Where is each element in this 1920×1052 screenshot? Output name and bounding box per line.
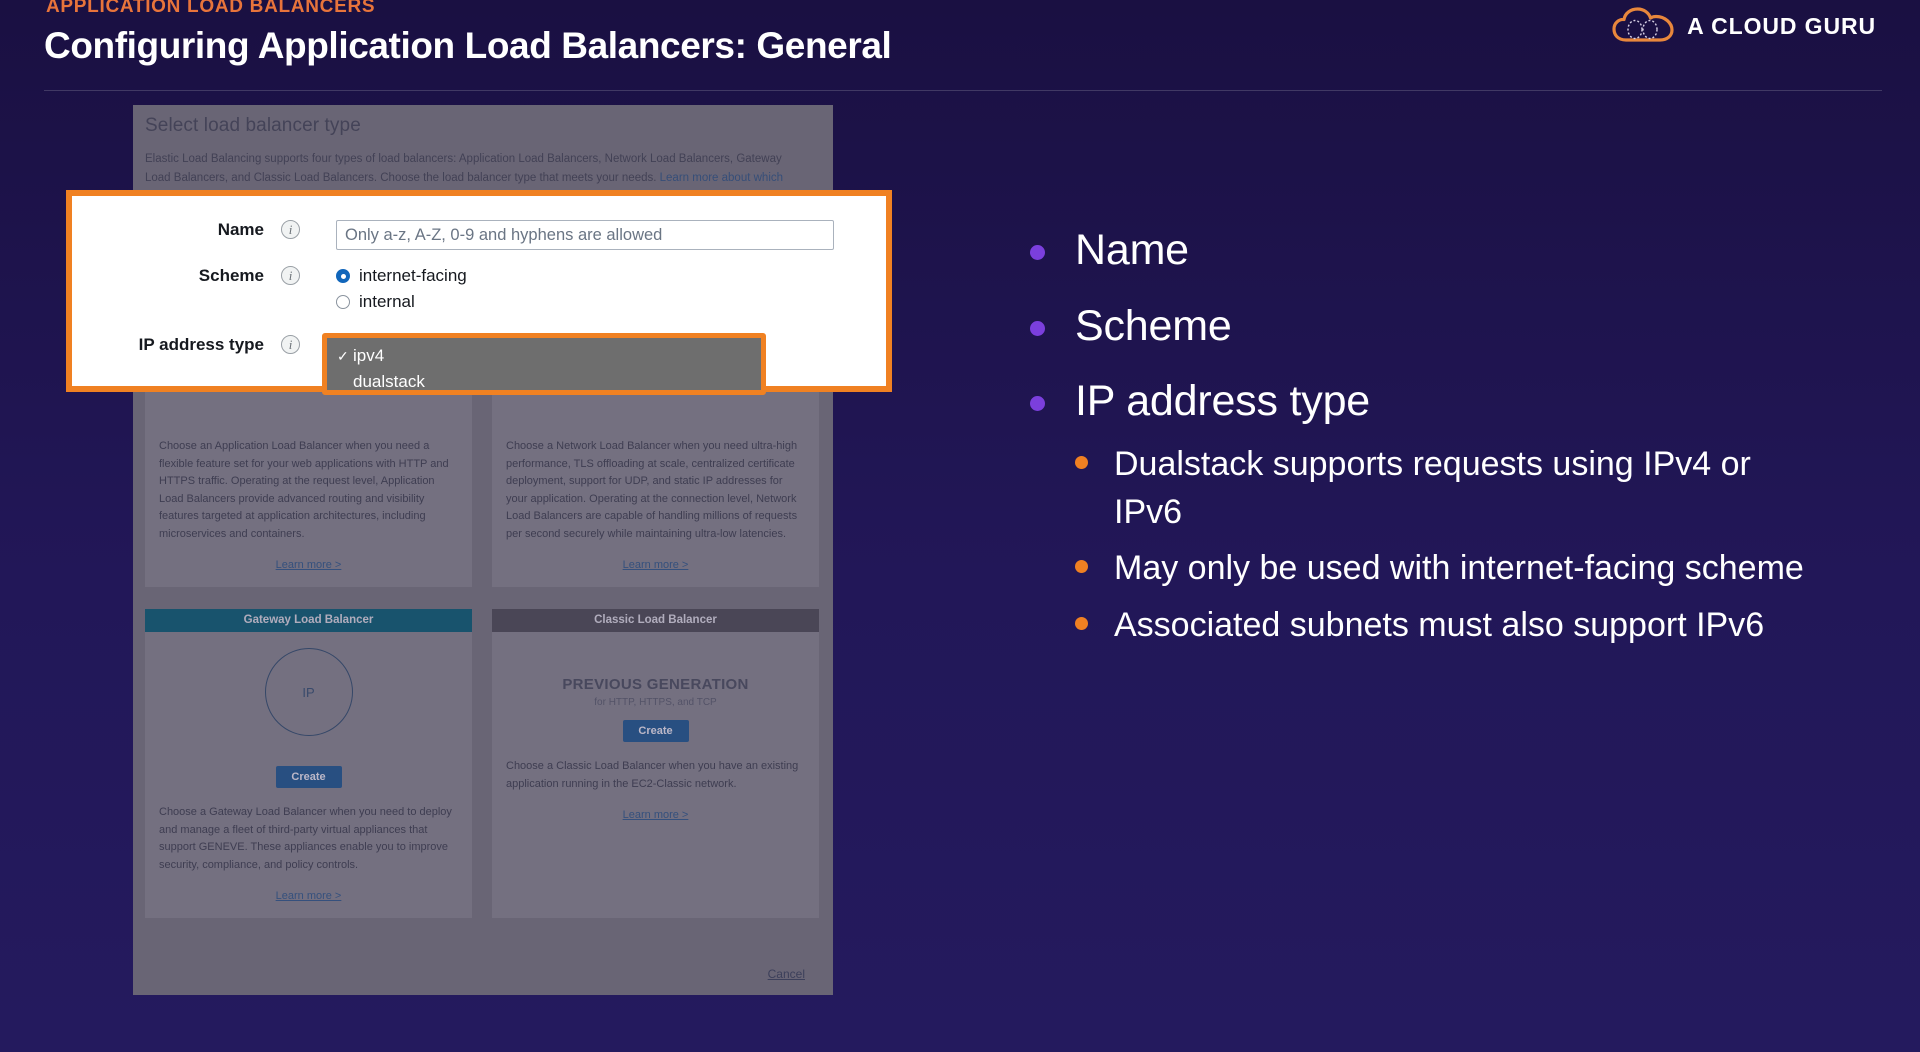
form-row-scheme: Scheme i internet-facing internal [72,264,886,314]
bullet-item-ip-address-type: IP address type [1030,376,1890,428]
cancel-button[interactable]: Cancel [768,967,805,981]
check-icon: ✓ [337,343,353,369]
name-input[interactable] [336,220,834,250]
create-button[interactable]: Create [623,720,689,742]
card-description: Choose a Classic Load Balancer when you … [506,758,805,793]
scheme-radio-group: internet-facing internal [336,264,467,314]
bullet-item-name: Name [1030,225,1890,277]
card-description: Choose a Network Load Balancer when you … [506,438,805,543]
dropdown-option-label: ipv4 [353,343,384,369]
create-button[interactable]: Create [276,766,342,788]
card-classic-load-balancer[interactable]: Classic Load Balancer PREVIOUS GENERATIO… [492,609,819,918]
dropdown-option-ipv4[interactable]: ✓ ipv4 [327,343,761,369]
info-icon[interactable]: i [281,266,300,285]
learn-more-link[interactable]: Learn more > [506,559,805,571]
name-label: Name [72,220,264,240]
gateway-graphic: IP [159,642,458,754]
sub-bullet-item: Associated subnets must also support IPv… [1075,601,1890,649]
radio-internet-facing[interactable]: internet-facing [336,264,467,288]
radio-selected-icon[interactable] [336,269,350,283]
cloud-icon [1612,7,1674,45]
bullet-group-ip-address-type: IP address type Dualstack supports reque… [1030,376,1890,649]
dropdown-option-label: dualstack [353,369,425,395]
info-icon[interactable]: i [281,220,300,239]
logo-text: A CLOUD GURU [1687,13,1876,40]
bullet-text: IP address type [1075,376,1370,428]
brand-logo: A CLOUD GURU [1612,7,1876,45]
card-description: Choose an Application Load Balancer when… [159,438,458,543]
ip-address-type-label: IP address type [72,332,264,355]
bullet-text: Scheme [1075,301,1232,353]
sub-bullet-text: Associated subnets must also support IPv… [1114,601,1764,649]
sub-bullet-item: May only be used with internet-facing sc… [1075,544,1890,592]
learn-more-link[interactable]: Learn more > [506,809,805,821]
previous-generation-title: PREVIOUS GENERATION [506,676,805,693]
bullet-list: Name Scheme IP address type Dualstack su… [1030,225,1890,657]
learn-more-link[interactable]: Learn more > [159,559,458,571]
bullet-text: Name [1075,225,1189,277]
sub-bullet-dot-icon [1075,560,1088,573]
card-title: Gateway Load Balancer [145,609,472,632]
card-description: Choose a Gateway Load Balancer when you … [159,804,458,874]
aws-panel-heading: Select load balancer type [145,115,361,137]
slide-eyebrow: APPLICATION LOAD BALANCERS [46,0,375,18]
page-title: Configuring Application Load Balancers: … [44,25,891,67]
card-row-bottom: Gateway Load Balancer IP Create Choose a… [145,609,820,918]
sub-bullet-dot-icon [1075,617,1088,630]
header-divider [44,90,1882,91]
radio-label: internal [359,292,415,312]
learn-more-link[interactable]: Learn more > [159,890,458,902]
form-row-name: Name i [72,220,886,250]
bullet-item-scheme: Scheme [1030,301,1890,353]
dropdown-option-dualstack[interactable]: dualstack [327,369,761,395]
info-icon[interactable]: i [281,335,300,354]
bullet-dot-icon [1030,321,1045,336]
card-gateway-load-balancer[interactable]: Gateway Load Balancer IP Create Choose a… [145,609,472,918]
radio-label: internet-facing [359,266,467,286]
radio-unselected-icon[interactable] [336,295,350,309]
previous-generation-badge: PREVIOUS GENERATION for HTTP, HTTPS, and… [506,642,805,708]
radio-internal[interactable]: internal [336,290,467,314]
ip-address-type-dropdown[interactable]: ✓ ipv4 dualstack [322,333,766,395]
sub-bullet-text: May only be used with internet-facing sc… [1114,544,1804,592]
sub-bullet-dot-icon [1075,456,1088,469]
ip-circle-label: IP [265,648,353,736]
bullet-dot-icon [1030,245,1045,260]
previous-generation-subtitle: for HTTP, HTTPS, and TCP [506,697,805,708]
sub-bullet-item: Dualstack supports requests using IPv4 o… [1075,440,1890,537]
aws-intro-line-1: Elastic Load Balancing supports four typ… [145,153,733,165]
card-title: Classic Load Balancer [492,609,819,632]
sub-bullet-text: Dualstack supports requests using IPv4 o… [1114,440,1814,537]
scheme-label: Scheme [72,264,264,286]
bullet-dot-icon [1030,396,1045,411]
sub-bullet-list: Dualstack supports requests using IPv4 o… [1075,440,1890,649]
